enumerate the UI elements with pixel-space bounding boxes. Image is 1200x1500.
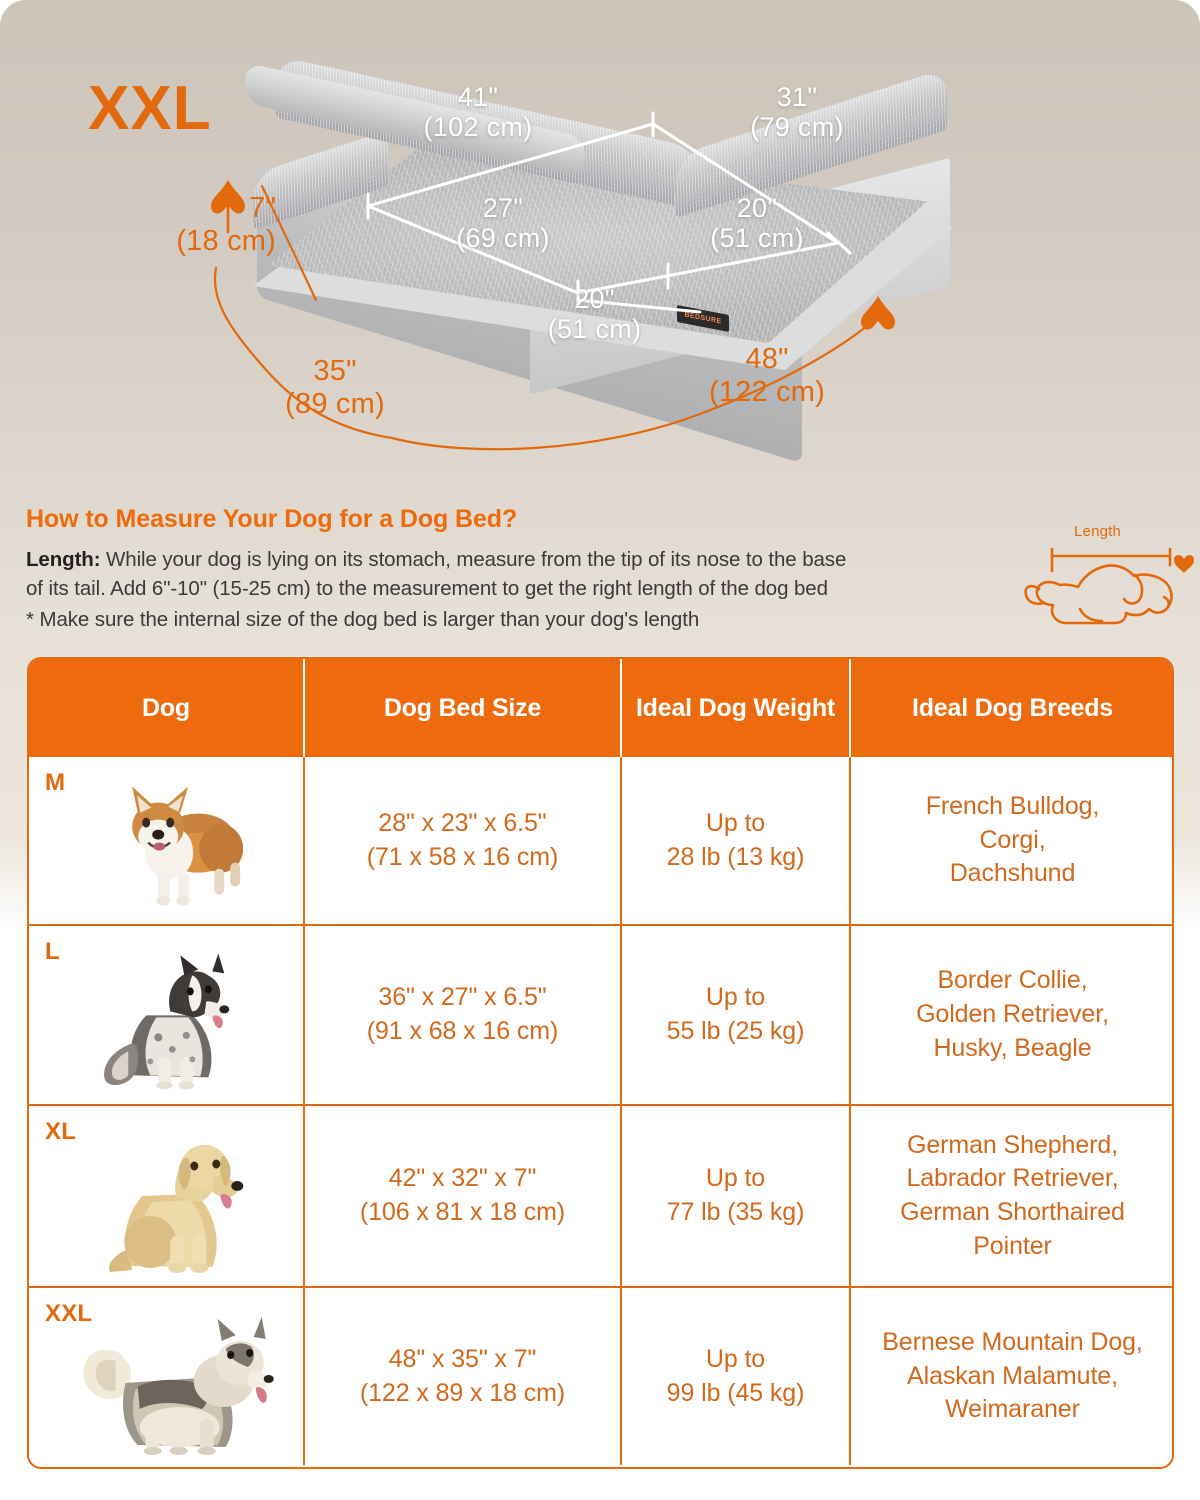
dim-label-top-back: 41" (102 cm) bbox=[398, 82, 558, 142]
cell-weight-xl: Up to 77 lb (35 kg) bbox=[621, 1105, 850, 1287]
bed-size-cm: (106 x 81 x 18 cm) bbox=[315, 1196, 610, 1230]
cell-bed-size-xl: 42" x 32" x 7" (106 x 81 x 18 cm) bbox=[304, 1105, 621, 1287]
cell-dog-xl: XL bbox=[29, 1105, 304, 1287]
dim-label-height: 7" (18 cm) bbox=[136, 192, 276, 259]
cell-breeds-l: Border Collie, Golden Retriever, Husky, … bbox=[850, 925, 1174, 1105]
measure-body-line1: While your dog is lying on its stomach, … bbox=[100, 548, 846, 571]
infographic-page: XXL BEDSURE bbox=[0, 0, 1200, 1500]
weight-line2: 77 lb (35 kg) bbox=[632, 1196, 839, 1230]
header-breeds: Ideal Dog Breeds bbox=[850, 659, 1174, 757]
dim-label-top-right: 31" (79 cm) bbox=[722, 82, 872, 142]
weight-line2: 28 lb (13 kg) bbox=[632, 841, 839, 875]
cell-bed-size-l: 36" x 27" x 6.5" (91 x 68 x 16 cm) bbox=[304, 925, 621, 1105]
measure-heading: How to Measure Your Dog for a Dog Bed? bbox=[26, 505, 1176, 534]
dim-inches: 7" bbox=[136, 192, 276, 225]
weight-line2: 55 lb (25 kg) bbox=[632, 1015, 839, 1049]
dim-metric: (89 cm) bbox=[250, 388, 420, 421]
dim-inches: 41" bbox=[398, 82, 558, 112]
bed-size-cm: (122 x 89 x 18 cm) bbox=[315, 1377, 610, 1411]
dim-inches: 20" bbox=[677, 193, 837, 223]
cell-dog-m: M bbox=[29, 757, 304, 925]
dog-photo-labrador bbox=[88, 1124, 273, 1274]
cell-weight-xxl: Up to 99 lb (45 kg) bbox=[621, 1287, 850, 1465]
dog-photo-border-collie bbox=[88, 945, 273, 1090]
heart-icon bbox=[1174, 555, 1194, 573]
table-row: XXL bbox=[29, 1287, 1174, 1465]
diagram-length-label: Length bbox=[1074, 523, 1121, 540]
header-bed-size: Dog Bed Size bbox=[304, 659, 621, 757]
weight-line1: Up to bbox=[632, 807, 839, 841]
dim-inches: 31" bbox=[722, 82, 872, 112]
bed-size-cm: (71 x 58 x 16 cm) bbox=[315, 841, 610, 875]
dog-photo-malamute bbox=[76, 1305, 291, 1455]
cell-dog-l: L bbox=[29, 925, 304, 1105]
bed-size-inches: 48" x 35" x 7" bbox=[315, 1343, 610, 1377]
measure-note: * Make sure the internal size of the dog… bbox=[26, 605, 981, 634]
measure-body-line2: of its tail. Add 6"-10" (15-25 cm) to th… bbox=[26, 577, 828, 600]
weight-line1: Up to bbox=[632, 981, 839, 1015]
cell-weight-l: Up to 55 lb (25 kg) bbox=[621, 925, 850, 1105]
dim-label-outer-length: 48" (122 cm) bbox=[672, 343, 862, 410]
dim-metric: (79 cm) bbox=[722, 112, 872, 142]
dim-label-inner-width: 20" (51 cm) bbox=[677, 193, 837, 253]
dim-metric: (18 cm) bbox=[136, 225, 276, 258]
header-weight: Ideal Dog Weight bbox=[621, 659, 850, 757]
dim-metric: (51 cm) bbox=[677, 223, 837, 253]
dim-inches: 48" bbox=[672, 343, 862, 376]
dim-label-outer-width: 35" (89 cm) bbox=[250, 355, 420, 422]
cell-bed-size-xxl: 48" x 35" x 7" (122 x 89 x 18 cm) bbox=[304, 1287, 621, 1465]
table-row: L bbox=[29, 925, 1174, 1105]
dim-label-front-opening: 20" (51 cm) bbox=[512, 284, 677, 344]
hero-section: XXL BEDSURE bbox=[0, 0, 1200, 485]
cell-dog-xxl: XXL bbox=[29, 1287, 304, 1465]
dog-photo-corgi bbox=[86, 778, 276, 908]
weight-line1: Up to bbox=[632, 1162, 839, 1196]
measure-body: Length: While your dog is lying on its s… bbox=[26, 545, 981, 603]
table-row: XL bbox=[29, 1105, 1174, 1287]
header-dog: Dog bbox=[29, 659, 304, 757]
bed-size-cm: (91 x 68 x 16 cm) bbox=[315, 1015, 610, 1049]
measure-length-label: Length: bbox=[26, 548, 100, 571]
table-header-row: Dog Dog Bed Size Ideal Dog Weight Ideal … bbox=[29, 659, 1174, 757]
dog-length-diagram: Length bbox=[1018, 523, 1200, 633]
weight-line1: Up to bbox=[632, 1343, 839, 1377]
dim-inches: 35" bbox=[250, 355, 420, 388]
size-label-xl: XL bbox=[45, 1116, 76, 1148]
cell-breeds-xxl: Bernese Mountain Dog, Alaskan Malamute, … bbox=[850, 1287, 1174, 1465]
bed-size-inches: 28" x 23" x 6.5" bbox=[315, 807, 610, 841]
size-label-l: L bbox=[45, 936, 60, 968]
dim-metric: (51 cm) bbox=[512, 314, 677, 344]
cell-breeds-m: French Bulldog, Corgi, Dachshund bbox=[850, 757, 1174, 925]
cell-weight-m: Up to 28 lb (13 kg) bbox=[621, 757, 850, 925]
size-badge: XXL bbox=[88, 78, 212, 140]
dim-label-inner-length: 27" (69 cm) bbox=[418, 193, 588, 253]
bed-size-inches: 36" x 27" x 6.5" bbox=[315, 981, 610, 1015]
bed-size-inches: 42" x 32" x 7" bbox=[315, 1162, 610, 1196]
dim-metric: (69 cm) bbox=[418, 223, 588, 253]
measure-section: How to Measure Your Dog for a Dog Bed? L… bbox=[26, 505, 1176, 634]
dim-metric: (122 cm) bbox=[672, 376, 862, 409]
dim-inches: 20" bbox=[512, 284, 677, 314]
weight-line2: 99 lb (45 kg) bbox=[632, 1377, 839, 1411]
dim-inches: 27" bbox=[418, 193, 588, 223]
cell-bed-size-m: 28" x 23" x 6.5" (71 x 58 x 16 cm) bbox=[304, 757, 621, 925]
table-row: M bbox=[29, 757, 1174, 925]
size-label-m: M bbox=[45, 767, 65, 799]
cell-breeds-xl: German Shepherd, Labrador Retriever, Ger… bbox=[850, 1105, 1174, 1287]
size-chart-table: Dog Dog Bed Size Ideal Dog Weight Ideal … bbox=[27, 657, 1174, 1469]
dim-metric: (102 cm) bbox=[398, 112, 558, 142]
